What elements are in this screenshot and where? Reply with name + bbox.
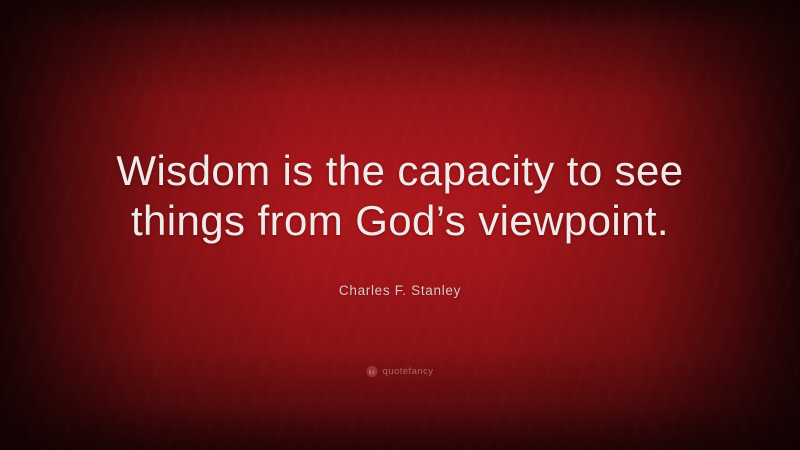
quote-poster: Wisdom is the capacity to see things fro… (0, 0, 800, 450)
quote-mark-icon (367, 366, 378, 377)
watermark: quotefancy (367, 366, 434, 377)
quote-author: Charles F. Stanley (339, 283, 461, 299)
quote-text: Wisdom is the capacity to see things fro… (70, 146, 730, 246)
watermark-brand: quotefancy (383, 366, 434, 377)
poster-content: Wisdom is the capacity to see things fro… (0, 0, 800, 450)
